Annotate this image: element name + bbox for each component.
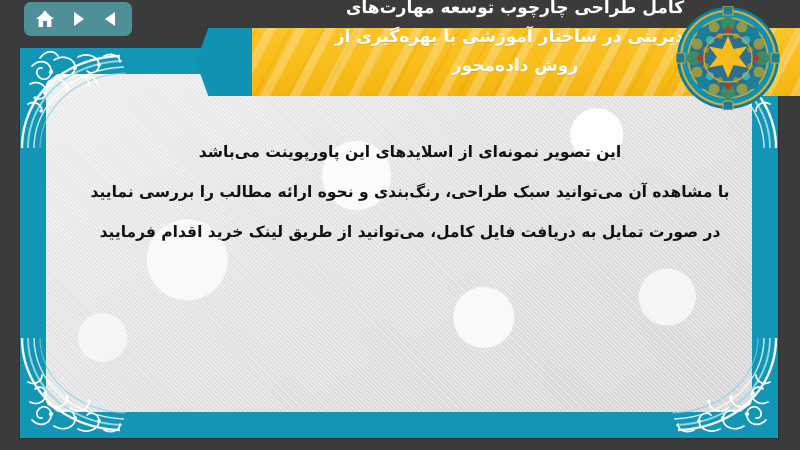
body-paragraph: این تصویر نمونه‌ای از اسلایدهای این پاور… bbox=[70, 132, 750, 172]
persian-medallion-icon bbox=[676, 6, 780, 110]
home-icon bbox=[35, 10, 55, 29]
home-button[interactable] bbox=[30, 6, 60, 32]
next-button[interactable] bbox=[63, 6, 93, 32]
triangle-left-icon bbox=[102, 10, 120, 28]
navigation-panel bbox=[24, 2, 132, 36]
previous-button[interactable] bbox=[96, 6, 126, 32]
triangle-right-icon bbox=[69, 10, 87, 28]
body-paragraph: با مشاهده آن می‌توانید سبک طراحی، رنگ‌بن… bbox=[70, 172, 750, 212]
presentation-slide: این تصویر نمونه‌ای از اسلایدهای این پاور… bbox=[0, 0, 800, 450]
body-paragraph: در صورت تمایل به دریافت فایل کامل، می‌تو… bbox=[70, 212, 750, 252]
slide-body: این تصویر نمونه‌ای از اسلایدهای این پاور… bbox=[70, 132, 750, 252]
